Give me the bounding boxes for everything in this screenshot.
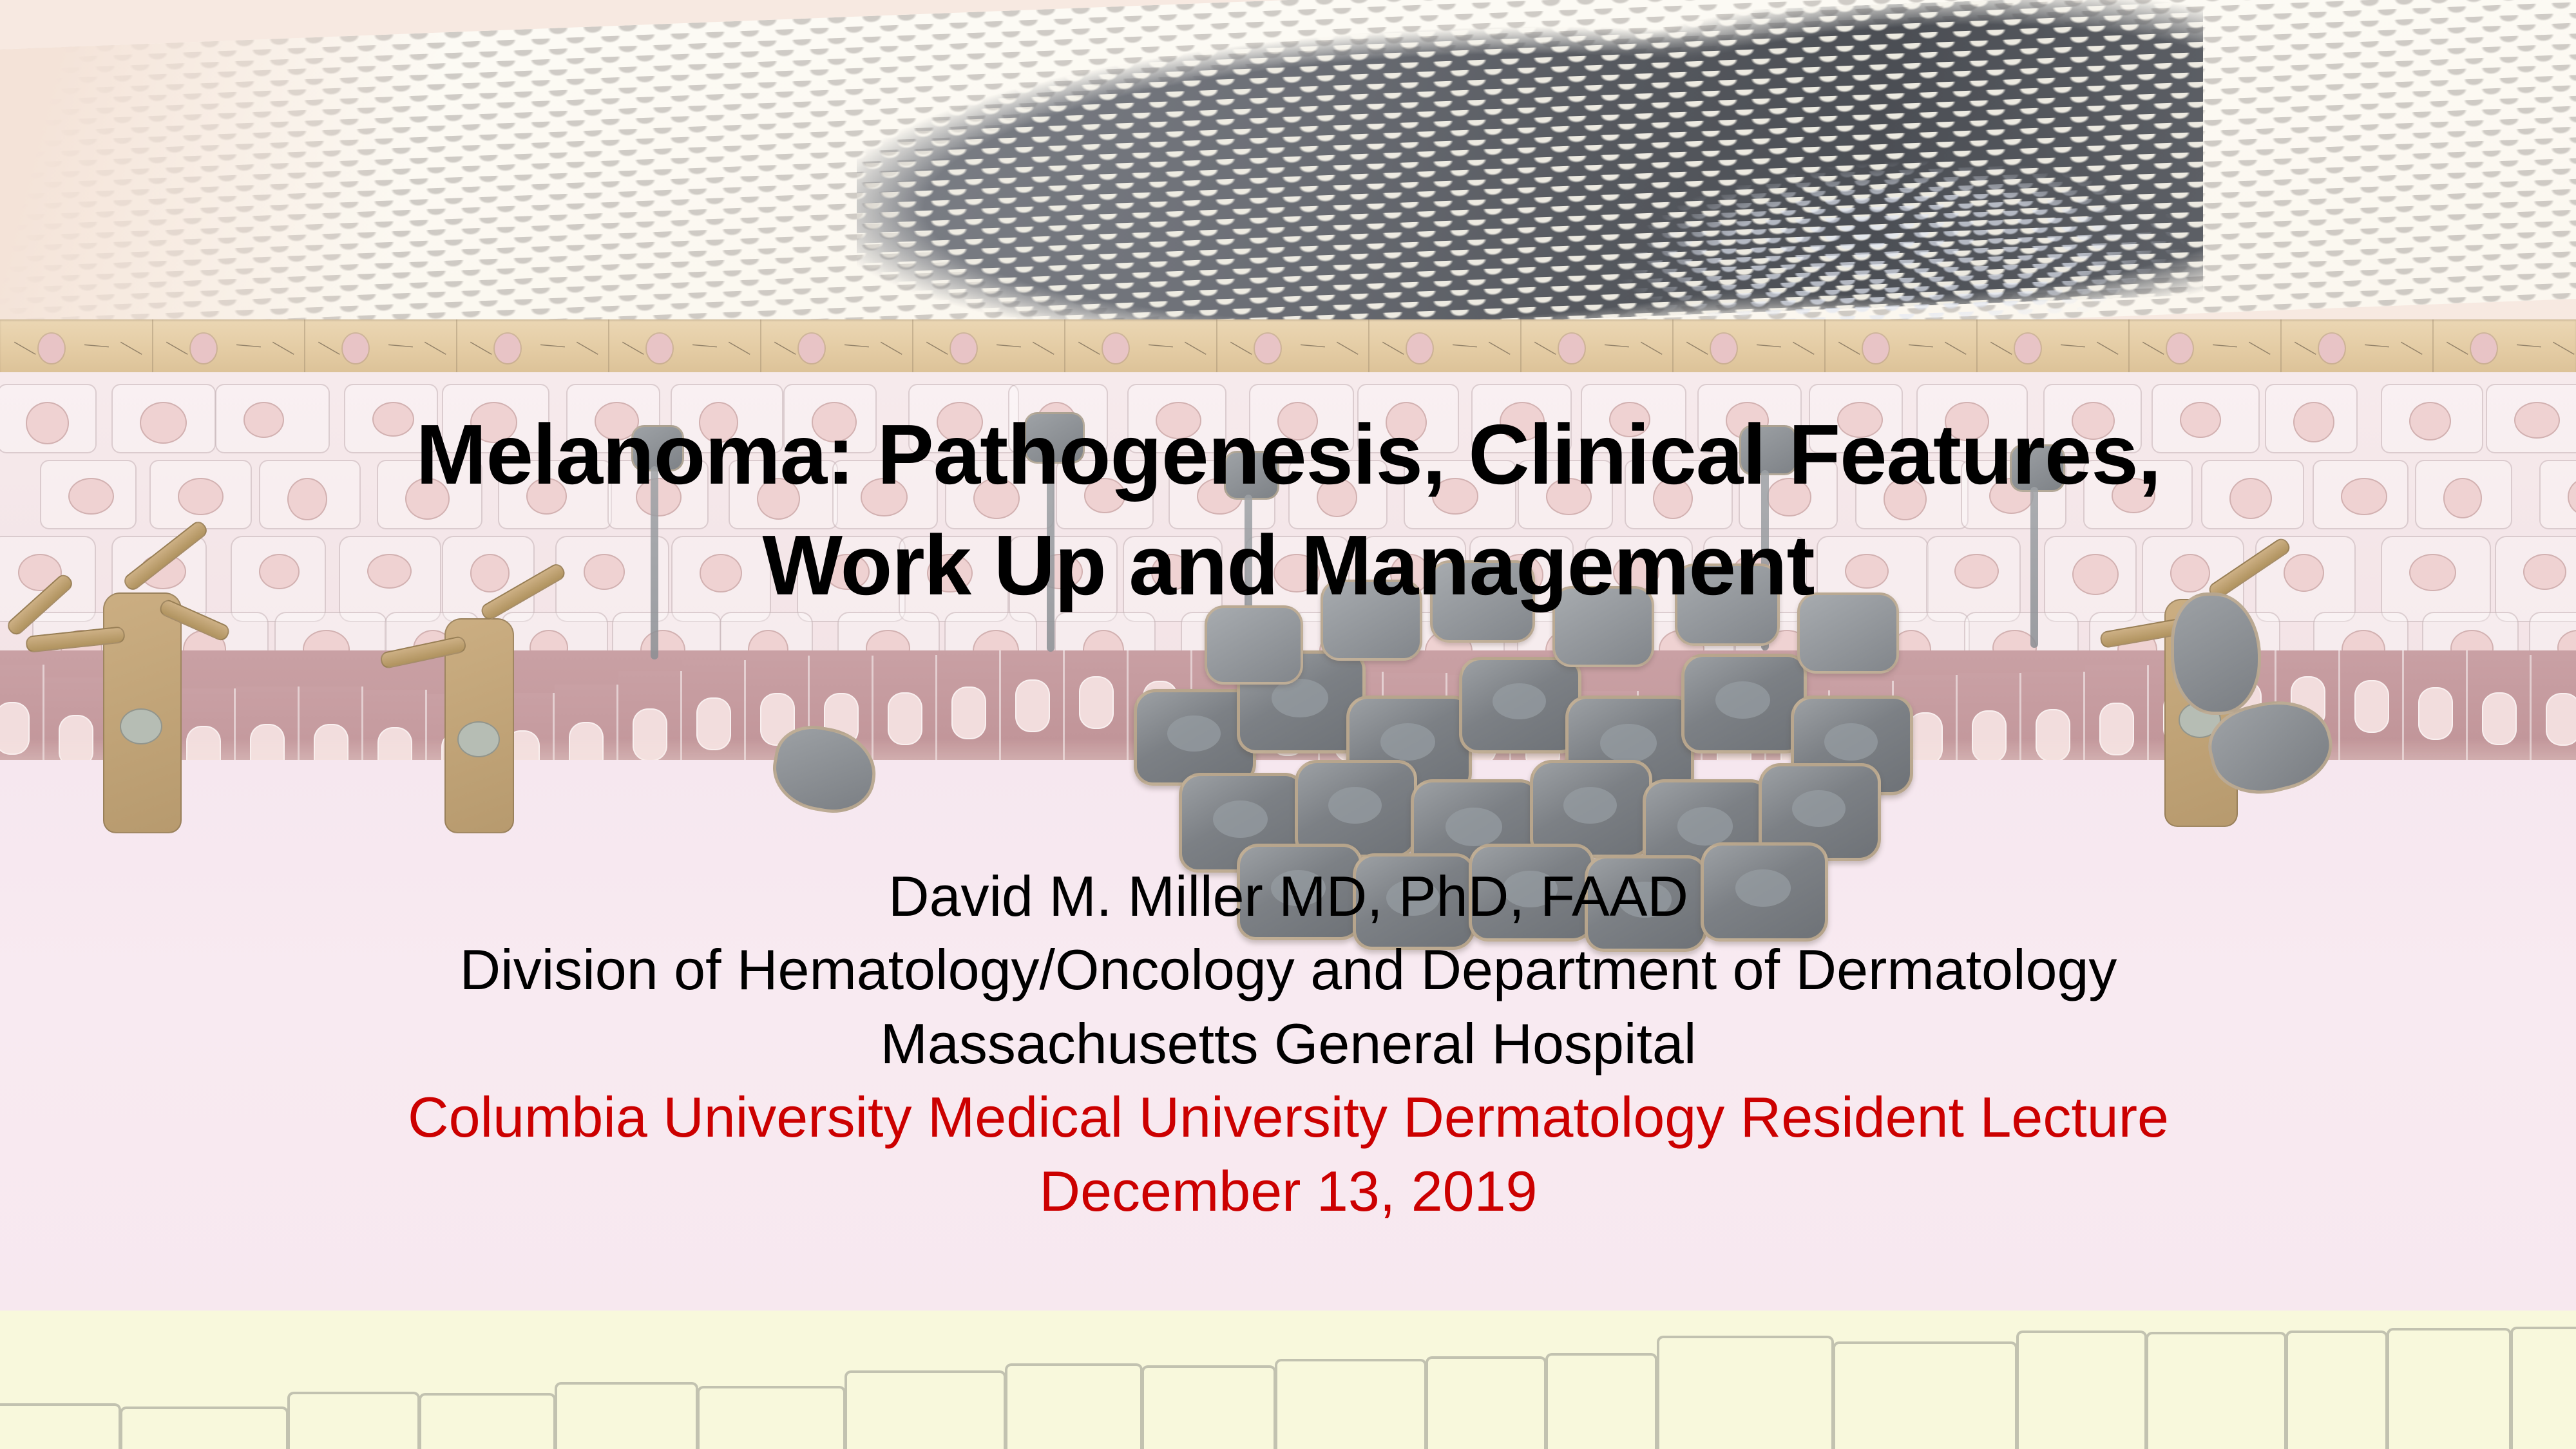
adipocyte — [697, 1386, 846, 1449]
cell-nucleus — [2015, 334, 2041, 363]
presentation-slide: ⸺⸺⸺⸺⸺⸺⸺⸺⸺⸺⸺⸺⸺⸺⸺⸺⸺⸺⸺⸺⸺⸺⸺⸺⸺⸺⸺⸺⸺⸺⸺⸺⸺⸺⸺⸺⸺⸺⸺⸺… — [0, 0, 2576, 1449]
cell-nucleus — [696, 697, 731, 750]
cell-nucleus — [2099, 703, 2134, 755]
title-line-1: Melanoma: Pathogenesis, Clinical Feature… — [97, 399, 2480, 510]
subtitle-lecture-venue: Columbia University Medical University D… — [97, 1081, 2480, 1154]
adipocyte — [2387, 1328, 2512, 1449]
keratohyalin-granule: ⸺ — [2059, 338, 2075, 352]
keratohyalin-granule: ⸺ — [539, 338, 555, 352]
cell-nucleus — [1711, 334, 1737, 363]
subcutaneous-fat-layer — [0, 1311, 2576, 1449]
subtitle-date: December 13, 2019 — [97, 1155, 2480, 1228]
adipocyte — [120, 1406, 289, 1449]
cell-nucleus — [2523, 554, 2566, 590]
cell-nucleus — [647, 334, 673, 363]
cell-nucleus — [2418, 687, 2453, 740]
adipocyte — [2510, 1327, 2576, 1449]
keratohyalin-granule: ⸺ — [2211, 338, 2227, 352]
adipocyte — [2016, 1331, 2147, 1449]
cell-nucleus — [2471, 334, 2497, 363]
keratohyalin-granule: ⸺ — [235, 338, 251, 352]
keratohyalin-granule: ⸺ — [1603, 338, 1619, 352]
cell-nucleus — [191, 334, 216, 363]
adipocyte — [0, 1403, 121, 1449]
subtitle-presenter-name: David M. Miller MD, PhD, FAAD — [97, 860, 2480, 933]
cell-nucleus — [0, 702, 30, 755]
keratohyalin-granule: ⸺ — [387, 338, 403, 352]
blue-white-veil-region — [1610, 150, 2190, 340]
adipocyte — [287, 1392, 420, 1449]
adipocyte — [1833, 1341, 2018, 1449]
keratohyalin-granule: ⸺ — [1755, 338, 1771, 352]
keratohyalin-granule: ⸺ — [995, 338, 1011, 352]
keratohyalin-granule: ⸺ — [2363, 338, 2379, 352]
slide-subtitle: David M. Miller MD, PhD, FAAD Division o… — [97, 860, 2480, 1228]
adipocyte — [2146, 1332, 2287, 1449]
cell-nucleus — [1103, 334, 1129, 363]
cell-nucleus — [495, 334, 520, 363]
adipocyte — [2285, 1331, 2388, 1449]
cell-nucleus — [2319, 334, 2345, 363]
cell-nucleus — [1255, 334, 1281, 363]
subtitle-institution: Massachusetts General Hospital — [97, 1007, 2480, 1081]
adipocyte — [1275, 1359, 1427, 1449]
keratohyalin-granule: ⸺ — [691, 338, 707, 352]
adipocyte — [1005, 1363, 1143, 1449]
keratohyalin-granule: ⸺ — [1907, 338, 1923, 352]
keratohyalin-granule: ⸺ — [1147, 338, 1163, 352]
keratohyalin-granule: ⸺ — [2515, 338, 2531, 352]
keratohyalin-granule: ⸺ — [843, 338, 859, 352]
adipocyte — [1657, 1336, 1834, 1449]
cell-nucleus — [26, 402, 70, 444]
adipocyte — [419, 1393, 555, 1449]
cell-nucleus — [2482, 692, 2517, 745]
adipocyte — [1426, 1356, 1547, 1449]
adipocyte — [844, 1370, 1006, 1449]
adipocyte — [1545, 1353, 1658, 1449]
cell-nucleus — [1863, 334, 1889, 363]
cell-nucleus — [39, 334, 64, 363]
cell-nucleus — [1559, 334, 1585, 363]
stratum-granulosum-layer: ⸺⸺⸺⸺⸺⸺⸺⸺⸺⸺⸺⸺⸺⸺⸺⸺⸺⸺⸺⸺⸺⸺⸺⸺⸺⸺⸺⸺⸺⸺⸺⸺⸺⸺⸺⸺⸺⸺⸺⸺… — [0, 319, 2576, 374]
title-line-2: Work Up and Management — [97, 510, 2480, 621]
cell-nucleus — [799, 334, 825, 363]
cell-nucleus — [888, 692, 922, 745]
cell-nucleus — [1407, 334, 1433, 363]
cell-nucleus — [1015, 679, 1050, 732]
cell-nucleus — [343, 334, 368, 363]
cell-nucleus — [2354, 680, 2389, 733]
cell-nucleus — [2546, 693, 2576, 746]
keratohyalin-granule: ⸺ — [1299, 338, 1315, 352]
adipocyte — [1141, 1365, 1277, 1449]
keratohyalin-granule: ⸺ — [1451, 338, 1467, 352]
cell-nucleus — [951, 687, 986, 739]
subtitle-department: Division of Hematology/Oncology and Depa… — [97, 933, 2480, 1007]
adipocyte — [555, 1382, 698, 1449]
page-title: Melanoma: Pathogenesis, Clinical Feature… — [97, 399, 2480, 620]
cell-nucleus — [2036, 709, 2070, 762]
keratohyalin-granule: ⸺ — [83, 338, 99, 352]
cell-nucleus — [633, 708, 667, 761]
cell-nucleus — [2167, 334, 2193, 363]
cell-nucleus — [951, 334, 977, 363]
